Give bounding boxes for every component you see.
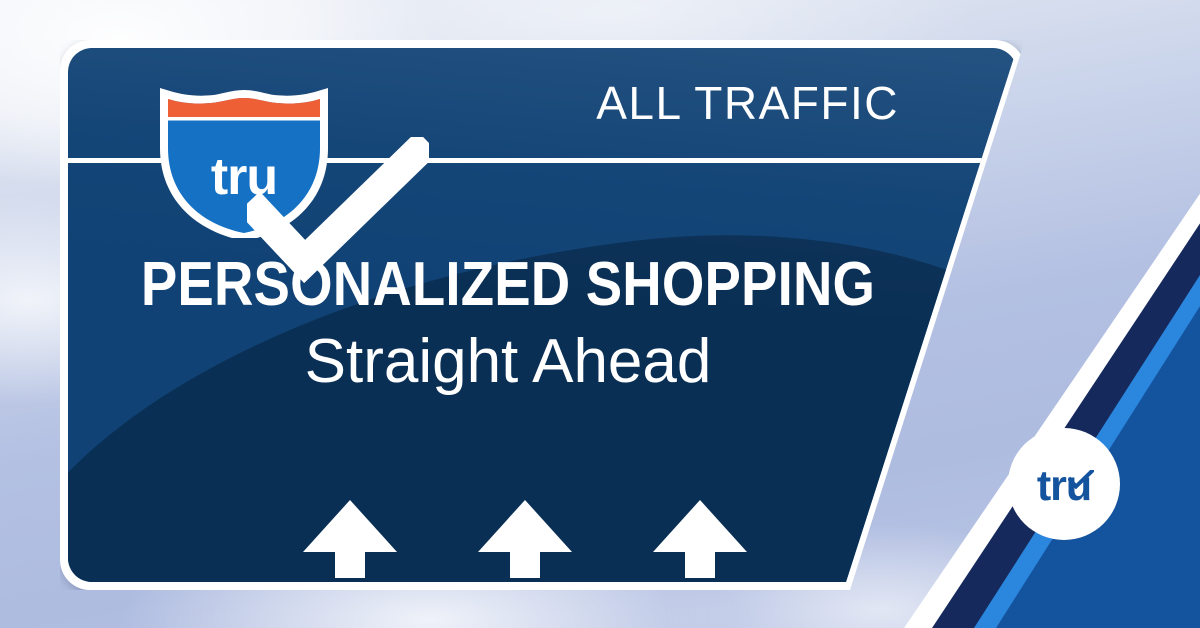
check-accent-icon: [247, 137, 277, 159]
badge-wordmark: tru: [1037, 465, 1091, 508]
arrow-row: [300, 498, 750, 580]
shield-wordmark-wrap: tru: [153, 86, 335, 238]
check-accent-icon: [1068, 454, 1094, 473]
arrow-up-icon-2: [475, 498, 575, 580]
arrow-up-icon-1: [300, 498, 400, 580]
tru-circle-logo: tru: [1008, 428, 1120, 540]
interstate-shield-icon: tru: [153, 86, 335, 238]
shield-wordmark: tru: [211, 151, 277, 203]
sign-headline: PERSONALIZED SHOPPING: [121, 253, 895, 317]
arrow-up-icon-3: [650, 498, 750, 580]
banner-stage: ALL TRAFFIC PERSONALIZED SHOPPING Straig…: [0, 0, 1200, 628]
all-traffic-label: ALL TRAFFIC: [596, 80, 899, 126]
sign-subheadline: Straight Ahead: [68, 325, 948, 398]
sign-message-block: PERSONALIZED SHOPPING Straight Ahead: [68, 253, 948, 399]
highway-sign: ALL TRAFFIC PERSONALIZED SHOPPING Straig…: [60, 40, 1025, 590]
